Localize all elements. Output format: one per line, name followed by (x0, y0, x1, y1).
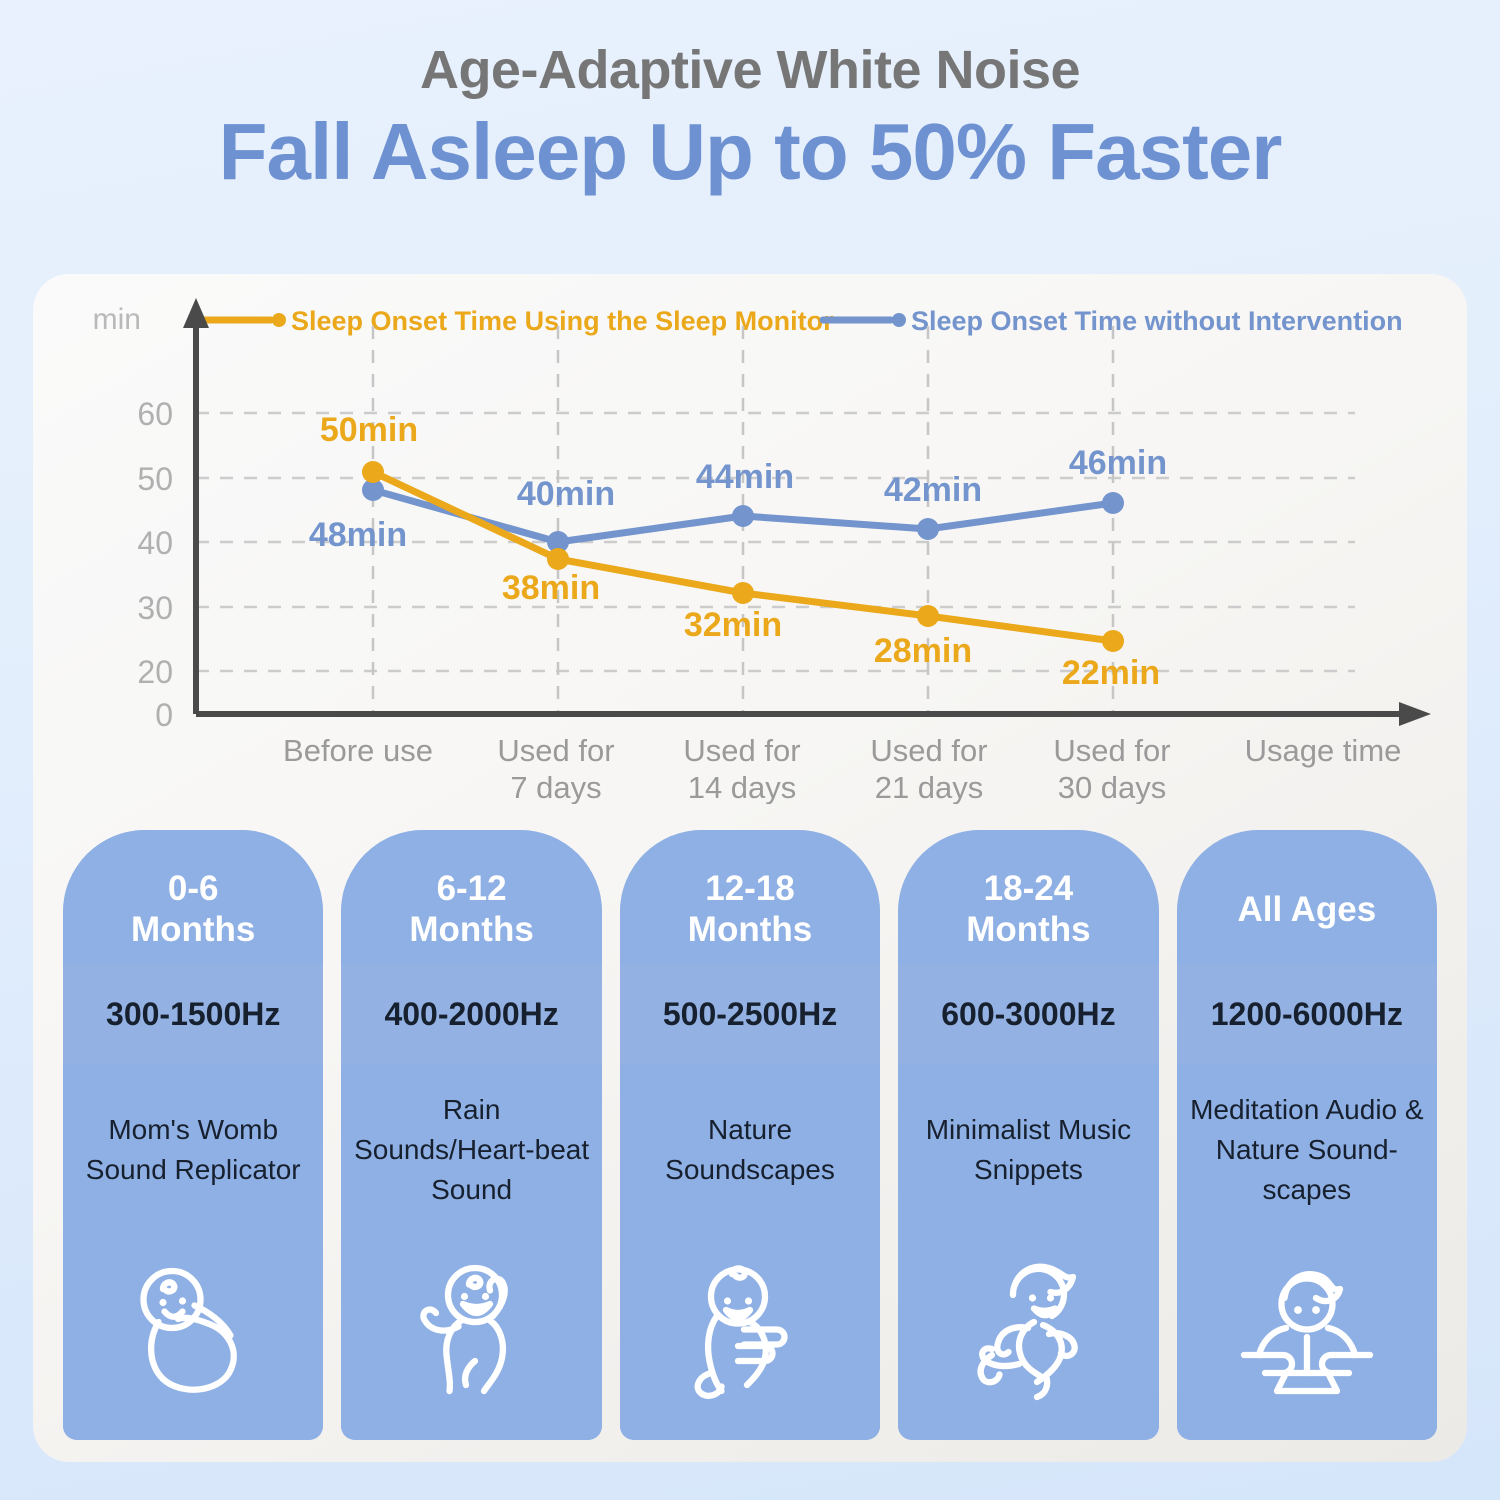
age-line-1: 0-6 (168, 869, 219, 908)
frequency-range: 600-3000Hz (898, 964, 1158, 1064)
x-tick-labels: Before use Used for 7 days Used for 14 d… (283, 733, 1401, 804)
data-label: 46min (1069, 444, 1167, 482)
age-card-12-18-months[interactable]: 12-18 Months 500-2500Hz Nature Soundscap… (620, 830, 880, 1440)
y-tick-20: 20 (137, 654, 173, 690)
eyebrow-text: Age-Adaptive White Noise (0, 42, 1500, 99)
x-tick-label: Used for (497, 733, 614, 768)
frequency-range: 500-2500Hz (620, 964, 880, 1064)
x-tick-label-line2: 21 days (875, 770, 984, 804)
age-card-6-12-months[interactable]: 6-12 Months 400-2000Hz Rain Sounds/Heart… (341, 830, 601, 1440)
crawling-baby-icon (620, 1236, 880, 1440)
legend-dot-nointervention (892, 313, 906, 327)
x-axis-end-label: Usage time (1245, 733, 1402, 768)
data-point (1102, 492, 1124, 514)
sound-description: Nature Soundscapes (620, 1064, 880, 1236)
age-card-title: 0-6 Months (63, 830, 323, 964)
content-panel: min Sleep Onset Time Using the Sleep Mon… (33, 274, 1467, 1462)
sound-description: Mom's Womb Sound Replicator (63, 1064, 323, 1236)
data-label: 40min (517, 475, 615, 513)
y-tick-50: 50 (137, 461, 173, 497)
running-toddler-icon (898, 1236, 1158, 1440)
data-point (1102, 630, 1124, 652)
data-label: 28min (874, 632, 972, 670)
age-card-all-ages[interactable]: All Ages 1200-6000Hz Meditation Audio & … (1177, 830, 1437, 1440)
frequency-range: 400-2000Hz (341, 964, 601, 1064)
data-label: 48min (309, 516, 407, 554)
data-point (732, 505, 754, 527)
age-line-2: Months (688, 910, 812, 949)
data-label: 32min (684, 606, 782, 644)
age-line-2: Months (131, 910, 255, 949)
sound-description: Meditation Audio & Nature Sound-scapes (1177, 1064, 1437, 1236)
age-card-18-24-months[interactable]: 18-24 Months 600-3000Hz Minimalist Music… (898, 830, 1158, 1440)
x-tick-label: Used for (1053, 733, 1170, 768)
y-tick-0: 0 (155, 697, 173, 733)
sound-description: Minimalist Music Snippets (898, 1064, 1158, 1236)
data-label: 44min (696, 458, 794, 496)
sound-description: Rain Sounds/Heart-beat Sound (341, 1064, 601, 1236)
age-card-title: All Ages (1177, 830, 1437, 964)
age-card-title: 12-18 Months (620, 830, 880, 964)
data-labels-monitor: 50min 38min 32min 28min 22min (320, 411, 1160, 692)
y-axis-unit: min (93, 303, 141, 336)
age-cards-row: 0-6 Months 300-1500Hz Mom's Womb Sound R… (63, 830, 1437, 1440)
frequency-range: 300-1500Hz (63, 964, 323, 1064)
x-tick-label-line2: 30 days (1058, 770, 1167, 804)
age-card-title: 18-24 Months (898, 830, 1158, 964)
data-point (547, 548, 569, 570)
y-tick-labels: 60 50 40 30 20 0 (137, 396, 173, 733)
data-label: 42min (884, 471, 982, 509)
chart-svg: min Sleep Onset Time Using the Sleep Mon… (33, 274, 1467, 804)
data-label: 50min (320, 411, 418, 449)
data-point (917, 518, 939, 540)
data-point (732, 582, 754, 604)
y-tick-40: 40 (137, 525, 173, 561)
age-line-2: Months (409, 910, 533, 949)
legend-dot-monitor (272, 313, 286, 327)
age-card-title: 6-12 Months (341, 830, 601, 964)
data-label: 38min (502, 569, 600, 607)
y-tick-60: 60 (137, 396, 173, 432)
age-card-0-6-months[interactable]: 0-6 Months 300-1500Hz Mom's Womb Sound R… (63, 830, 323, 1440)
header: Age-Adaptive White Noise Fall Asleep Up … (0, 0, 1500, 196)
page-title: Fall Asleep Up to 50% Faster (0, 107, 1500, 197)
age-line-2: Months (966, 910, 1090, 949)
sleep-onset-line-chart: min Sleep Onset Time Using the Sleep Mon… (33, 274, 1467, 804)
y-axis-arrow (183, 298, 209, 328)
age-line-1: 12-18 (705, 869, 795, 908)
age-line-1: All Ages (1237, 890, 1376, 929)
x-axis (196, 702, 1431, 726)
frequency-range: 1200-6000Hz (1177, 964, 1437, 1064)
x-tick-label: Before use (283, 733, 433, 768)
age-line-1: 6-12 (437, 869, 507, 908)
x-axis-arrow (1399, 702, 1431, 726)
y-tick-30: 30 (137, 590, 173, 626)
waving-baby-icon (341, 1236, 601, 1440)
swaddled-baby-icon (63, 1236, 323, 1440)
data-point (917, 605, 939, 627)
x-tick-label-line2: 7 days (510, 770, 601, 804)
legend-label-nointervention: Sleep Onset Time without Intervention (911, 306, 1403, 336)
chart-legend: Sleep Onset Time Using the Sleep Monitor… (203, 306, 1403, 336)
x-tick-label: Used for (870, 733, 987, 768)
data-label: 22min (1062, 654, 1160, 692)
meditating-person-icon (1177, 1236, 1437, 1440)
y-axis (183, 298, 209, 714)
age-line-1: 18-24 (984, 869, 1074, 908)
data-point (362, 461, 384, 483)
x-tick-label-line2: 14 days (688, 770, 797, 804)
x-tick-label: Used for (683, 733, 800, 768)
